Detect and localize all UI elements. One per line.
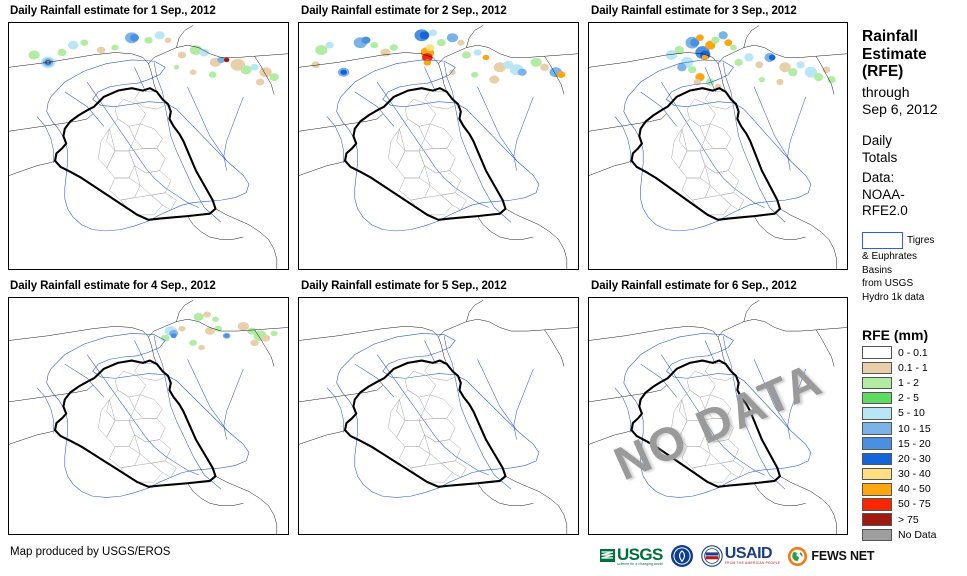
neighbor-border: [744, 300, 759, 321]
neighbor-border: [589, 385, 666, 402]
iraq-national-border: [55, 361, 215, 487]
province-boundary: [135, 166, 171, 196]
panel-3-title: Daily Rainfall estimate for 3 Sep., 2012: [591, 5, 797, 17]
rainfall-cell: [462, 51, 471, 58]
river-line: [377, 82, 489, 207]
legend-label: No Data: [898, 529, 937, 541]
legend-row: 40 - 50: [862, 482, 967, 497]
neighbor-border: [466, 300, 483, 321]
rainfall-cell: [198, 345, 205, 350]
rainfall-cell: [755, 61, 763, 68]
province-boundary: [115, 371, 146, 397]
rfe-legend-heading: RFE (mm): [862, 327, 928, 343]
province-boundary: [397, 421, 425, 447]
province-boundary: [399, 447, 430, 468]
river-line: [224, 369, 244, 440]
legend-label: 0 - 0.1: [898, 347, 928, 359]
rainfall-cell: [735, 59, 743, 66]
map-graphic-4: [9, 298, 288, 534]
province-boundary: [721, 193, 744, 210]
province-boundary: [682, 178, 710, 200]
province-boundary: [687, 99, 715, 126]
rainfall-cell: [165, 38, 172, 43]
province-boundary: [388, 129, 405, 168]
legend-label: 1 - 2: [898, 377, 919, 389]
rainfall-cell: [711, 37, 719, 44]
river-line: [661, 82, 764, 207]
neighbor-border: [215, 209, 276, 269]
river-line: [87, 355, 199, 475]
neighbor-border: [505, 476, 566, 534]
neighbor-border: [780, 209, 837, 269]
basin-label: Tigres: [907, 235, 934, 246]
neighbor-border: [545, 330, 565, 367]
neighbor-border: [478, 483, 534, 505]
rainfall-cell: [531, 58, 542, 67]
province-boundary: [151, 461, 176, 478]
province-boundary: [425, 124, 453, 149]
totals-line1: Daily: [862, 133, 897, 150]
province-boundary: [679, 151, 705, 178]
river-line: [615, 116, 630, 163]
river-line: [478, 87, 517, 161]
map-frame-5[interactable]: [298, 297, 579, 535]
rainfall-cell: [540, 64, 549, 71]
legend-label: 20 - 30: [898, 453, 931, 465]
rainfall-cell: [155, 31, 165, 39]
province-boundary: [411, 463, 453, 482]
province-boundary: [151, 193, 176, 210]
river-line: [615, 388, 630, 433]
through-label: through: [862, 84, 938, 101]
rainfall-cell: [788, 68, 797, 76]
neighbor-border: [9, 114, 93, 131]
usaid-wordmark: USAID: [725, 546, 781, 562]
usgs-tagline: science for a changing world: [617, 563, 663, 567]
rainfall-cell: [241, 65, 252, 74]
legend-row: 5 - 10: [862, 406, 967, 421]
neighbor-border: [299, 161, 346, 176]
rainfall-cell: [209, 71, 217, 77]
rainfall-cell: [270, 331, 277, 337]
rainfall-cell: [189, 340, 197, 346]
legend-swatch: [862, 513, 892, 526]
river-line: [188, 359, 227, 430]
map-graphic-5: [299, 298, 578, 534]
province-boundary: [109, 178, 140, 200]
province-boundary: [115, 99, 146, 126]
rainfall-cell: [688, 66, 696, 73]
province-boundary: [135, 124, 163, 149]
rainfall-cell: [178, 52, 186, 59]
rainfall-cell: [250, 340, 258, 347]
legend-swatch: [862, 362, 892, 375]
map-frame-3[interactable]: [588, 22, 848, 270]
map-graphic-3: [589, 23, 847, 269]
province-boundary: [425, 435, 461, 463]
legend-row: > 75: [862, 512, 967, 527]
rainfall-cell: [437, 39, 446, 46]
fews-globe-icon: [787, 546, 808, 567]
rainfall-cell: [224, 58, 230, 63]
basin-line3: Basins: [862, 265, 967, 278]
through-date: Sep 6, 2012: [862, 101, 938, 118]
neighbor-border: [299, 430, 346, 444]
tigris-euphrates-basin-outline: [337, 333, 539, 497]
river-line: [754, 87, 790, 161]
neighbor-border: [176, 300, 193, 321]
province-boundary: [121, 195, 163, 215]
basin-line5: Hydro 1k data: [862, 292, 967, 305]
province-boundary: [425, 166, 461, 196]
legend-swatch: [862, 377, 892, 390]
rainfall-cell: [390, 44, 398, 51]
province-boundary: [405, 99, 436, 126]
rainfall-cell: [29, 50, 40, 59]
iraq-national-border: [632, 88, 780, 220]
province-boundary: [135, 395, 163, 419]
legend-row: No Data: [862, 527, 967, 542]
province-boundary: [107, 421, 135, 447]
neighbor-border: [188, 483, 244, 505]
usaid-seal-icon: [701, 545, 723, 567]
rainfall-cell: [194, 313, 204, 321]
basin-swatch: [862, 232, 903, 249]
legend-swatch: [862, 437, 892, 450]
rainfall-cell: [97, 47, 105, 54]
province-boundary: [672, 129, 687, 168]
usgs-wave-icon: [600, 548, 615, 564]
river-line: [188, 87, 227, 161]
legend-label: > 75: [898, 514, 919, 526]
rainfall-cell: [471, 72, 478, 78]
legend-label: 50 - 75: [898, 498, 931, 510]
neighbor-border: [589, 114, 666, 131]
agency-logos: USGS science for a changing world USAID …: [600, 540, 874, 572]
province-boundary: [121, 463, 163, 482]
rainfall-cell: [827, 76, 835, 83]
rainfall-cell: [111, 45, 118, 51]
legend-label: 10 - 15: [898, 423, 931, 435]
legend-row: 0.1 - 1: [862, 360, 967, 375]
map-credit: Map produced by USGS/EROS: [10, 546, 170, 558]
sidebar-through: through Sep 6, 2012: [862, 84, 938, 118]
rainfall-cell: [724, 39, 732, 46]
map-graphic-2: [299, 23, 578, 269]
noaa-logo[interactable]: [670, 544, 694, 568]
rainfall-cell: [205, 327, 215, 335]
rainfall-cell: [144, 37, 152, 44]
neighbor-border: [466, 25, 483, 47]
sidebar-data-source: Data: NOAA- RFE2.0: [862, 170, 908, 220]
sidebar-title-line1: Rainfall: [862, 28, 927, 46]
rainfall-cell: [796, 61, 804, 68]
rainfall-cell: [361, 37, 370, 44]
province-boundary: [397, 151, 425, 178]
fews-wordmark: FEWS NET: [811, 549, 874, 563]
province-boundary: [721, 461, 744, 478]
tigris-euphrates-basin-outline: [47, 333, 249, 497]
rainfall-cell: [224, 334, 229, 338]
river-line: [87, 82, 199, 207]
legend-swatch: [862, 407, 892, 420]
neighbor-border: [478, 216, 534, 239]
rainfall-cell: [557, 71, 565, 78]
province-boundary: [107, 151, 135, 178]
river-line: [37, 116, 54, 163]
data-line2: NOAA-: [862, 187, 908, 204]
data-line3: RFE2.0: [862, 203, 908, 220]
rainfall-cell: [80, 40, 88, 46]
rainfall-cell: [256, 79, 264, 86]
province-boundary: [692, 195, 731, 215]
legend-label: 30 - 40: [898, 468, 931, 480]
province-boundary: [98, 399, 115, 437]
rainfall-cell: [250, 64, 258, 71]
map-frame-1[interactable]: [8, 22, 289, 270]
rainfall-cell: [203, 311, 211, 317]
legend-label: 5 - 10: [898, 407, 925, 419]
neighbor-border: [299, 114, 383, 131]
legend-label: 2 - 5: [898, 392, 919, 404]
rainfall-cell: [483, 55, 490, 60]
rainfall-cell: [677, 63, 686, 71]
map-graphic-1: [9, 23, 288, 269]
rainfall-cell: [489, 76, 499, 84]
legend-row: 2 - 5: [862, 391, 967, 406]
rainfall-cell: [238, 322, 249, 331]
legend-label: 40 - 50: [898, 483, 931, 495]
rainfall-cell: [217, 57, 225, 63]
legend-label: 0.1 - 1: [898, 362, 928, 374]
river-line: [37, 388, 54, 433]
map-frame-2[interactable]: [298, 22, 579, 270]
panel-6-title: Daily Rainfall estimate for 6 Sep., 2012: [591, 280, 797, 292]
rainfall-cell: [174, 65, 180, 70]
map-frame-6[interactable]: NO DATA: [588, 297, 848, 535]
rainfall-cell: [340, 69, 347, 74]
neighbor-border: [816, 330, 834, 367]
rainfall-cell: [370, 42, 378, 48]
neighbor-border: [9, 430, 56, 444]
rainfall-cell: [261, 335, 270, 342]
province-boundary: [441, 461, 466, 478]
province-boundary: [388, 399, 405, 437]
river-line: [514, 97, 534, 171]
rainfall-cell: [730, 45, 737, 51]
neighbor-border: [188, 216, 244, 239]
neighbor-border: [9, 385, 93, 402]
rainfall-cell: [178, 326, 185, 332]
data-line1: Data:: [862, 170, 908, 187]
iraq-national-border: [345, 88, 505, 220]
neighbor-border: [215, 476, 276, 534]
rainfall-cell: [518, 69, 527, 76]
legend-swatch: [862, 422, 892, 435]
province-boundary: [405, 371, 436, 397]
iraq-national-border: [55, 88, 215, 220]
river-line: [327, 388, 344, 433]
map-frame-4[interactable]: [8, 297, 289, 535]
province-boundary: [441, 193, 466, 210]
rainfall-cell: [429, 29, 437, 36]
rainfall-cell: [769, 54, 776, 60]
rainfall-cell: [744, 53, 753, 61]
rfe-legend: 0 - 0.10.1 - 11 - 22 - 55 - 1010 - 1515 …: [862, 345, 967, 542]
neighbor-border: [299, 385, 383, 402]
rainfall-cell: [420, 31, 429, 39]
usaid-logo[interactable]: USAID FROM THE AMERICAN PEOPLE: [701, 545, 781, 567]
river-line: [478, 359, 517, 430]
rainfall-cell: [58, 49, 67, 56]
province-boundary: [705, 124, 731, 149]
province-boundary: [705, 166, 739, 196]
legend-swatch: [862, 483, 892, 496]
legend-row: 20 - 30: [862, 451, 967, 466]
province-boundary: [692, 463, 731, 482]
legend-row: 15 - 20: [862, 436, 967, 451]
river-line: [327, 116, 344, 163]
usgs-logo[interactable]: USGS science for a changing world: [600, 546, 663, 567]
legend-row: 0 - 0.1: [862, 345, 967, 360]
basin-line4: from USGS: [862, 278, 967, 291]
legend-swatch: [862, 346, 892, 359]
river-line: [788, 97, 806, 171]
neighbor-border: [589, 161, 633, 176]
neighbor-border: [754, 483, 806, 505]
neighbor-border: [780, 476, 837, 534]
neighbor-border: [505, 209, 566, 269]
legend-swatch: [862, 392, 892, 405]
rainfall-cell: [212, 317, 219, 322]
rainfall-cell: [776, 79, 783, 85]
fews-net-logo[interactable]: FEWS NET: [787, 546, 874, 567]
usaid-tagline: FROM THE AMERICAN PEOPLE: [725, 562, 781, 565]
legend-row: 50 - 75: [862, 497, 967, 512]
tigris-euphrates-basin-outline: [337, 60, 539, 231]
rainfall-cell: [457, 40, 464, 46]
basin-legend: Tigres & Euphrates Basins from USGS Hydr…: [862, 232, 967, 304]
river-line: [514, 369, 534, 440]
province-boundary: [425, 395, 453, 419]
panel-2-title: Daily Rainfall estimate for 2 Sep., 2012: [301, 5, 507, 17]
province-boundary: [109, 447, 140, 468]
province-boundary: [411, 195, 453, 215]
rainfall-cell: [269, 73, 278, 81]
sidebar-totals: Daily Totals: [862, 133, 897, 166]
panel-5-title: Daily Rainfall estimate for 5 Sep., 2012: [301, 280, 507, 292]
totals-line2: Totals: [862, 150, 897, 167]
rainfall-cell: [696, 34, 704, 41]
rainfall-cell: [171, 333, 177, 338]
rainfall-cell: [315, 45, 327, 55]
tigris-euphrates-basin-outline: [47, 60, 249, 231]
panel-4-title: Daily Rainfall estimate for 4 Sep., 2012: [10, 280, 216, 292]
river-line: [377, 355, 489, 475]
basin-line2: & Euphrates: [862, 251, 967, 264]
legend-row: 10 - 15: [862, 421, 967, 436]
usgs-wordmark: USGS: [617, 546, 663, 563]
iraq-national-border: [345, 361, 505, 487]
province-boundary: [98, 129, 115, 168]
rainfall-cell: [190, 69, 197, 74]
info-sidebar: Rainfall Estimate (RFE) through Sep 6, 2…: [862, 0, 967, 576]
neighbor-border: [744, 25, 759, 47]
rainfall-cell: [447, 33, 458, 42]
rainfall-cell: [326, 42, 334, 49]
rainfall-cell: [426, 44, 434, 51]
panel-1-title: Daily Rainfall estimate for 1 Sep., 2012: [10, 5, 216, 17]
legend-swatch: [862, 498, 892, 511]
sidebar-title-line2: Estimate: [862, 46, 927, 64]
rainfall-cell: [719, 31, 728, 39]
legend-row: 30 - 40: [862, 467, 967, 482]
neighbor-border: [754, 216, 806, 239]
neighbor-border: [176, 25, 193, 47]
sidebar-title: Rainfall Estimate (RFE): [862, 28, 927, 81]
legend-swatch: [862, 453, 892, 466]
rainfall-cell: [68, 41, 79, 50]
rainfall-cell: [380, 48, 390, 56]
province-boundary: [135, 435, 171, 463]
rainfall-cell: [474, 49, 482, 55]
legend-swatch: [862, 468, 892, 481]
province-boundary: [399, 178, 430, 200]
rainfall-cell: [814, 73, 823, 81]
legend-label: 15 - 20: [898, 438, 931, 450]
sidebar-title-line3: (RFE): [862, 63, 927, 81]
neighbor-border: [9, 161, 56, 176]
rainfall-cell: [130, 34, 139, 41]
rainfall-cell: [759, 77, 765, 82]
river-line: [224, 97, 244, 171]
legend-row: 1 - 2: [862, 375, 967, 390]
